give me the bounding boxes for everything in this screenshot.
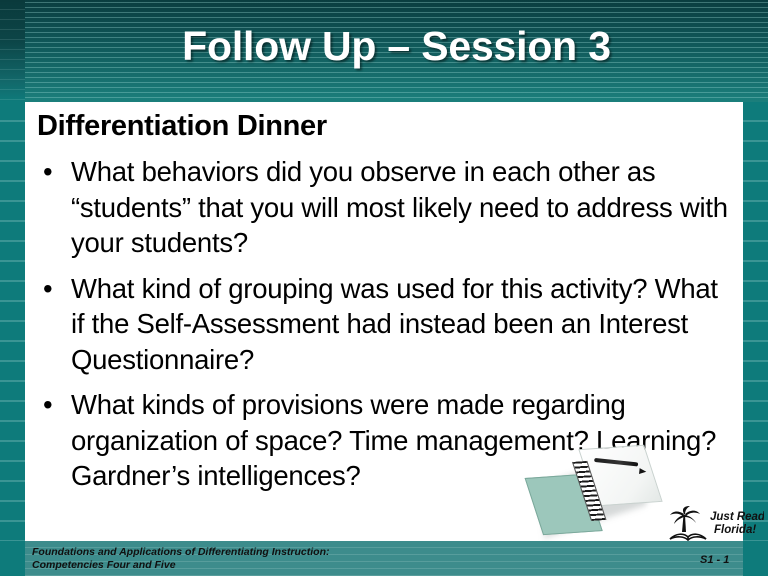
logo-artwork: Just Read, Florida! [668,506,764,544]
logo-line2: Florida! [714,524,756,536]
list-item: • What behaviors did you observe in each… [35,154,735,261]
bullet-marker-icon: • [43,271,52,307]
content-heading: Differentiation Dinner [37,110,327,143]
footer-course-title: Foundations and Applications of Differen… [32,546,330,572]
right-border-band [743,102,768,541]
logo-line1: Just Read, [710,511,764,523]
slide-footer: Foundations and Applications of Differen… [0,541,768,576]
slide-title: Follow Up – Session 3 [25,0,768,102]
bullet-marker-icon: • [43,154,52,190]
bullet-marker-icon: • [43,387,52,423]
header-left-band [0,0,25,102]
palm-tree-icon [670,506,700,532]
pen-tip-icon [639,468,647,475]
bullet-text: What kind of grouping was used for this … [71,273,718,375]
footer-right-band [743,541,768,576]
presentation-slide: Follow Up – Session 3 Differentiation Di… [0,0,768,576]
slide-header: Follow Up – Session 3 [0,0,768,102]
slide-number: S1 - 1 [700,554,729,566]
header-left-band-lines [0,0,25,102]
footer-left-band [0,541,25,576]
list-item: • What kind of grouping was used for thi… [35,271,735,378]
left-border-band [0,102,25,541]
just-read-florida-logo: Just Read, Florida! [668,506,764,544]
open-book-icon [670,534,706,540]
footer-line-1: Foundations and Applications of Differen… [32,546,330,559]
bullet-text: What behaviors did you observe in each o… [71,156,728,258]
footer-line-2: Competencies Four and Five [32,559,330,572]
